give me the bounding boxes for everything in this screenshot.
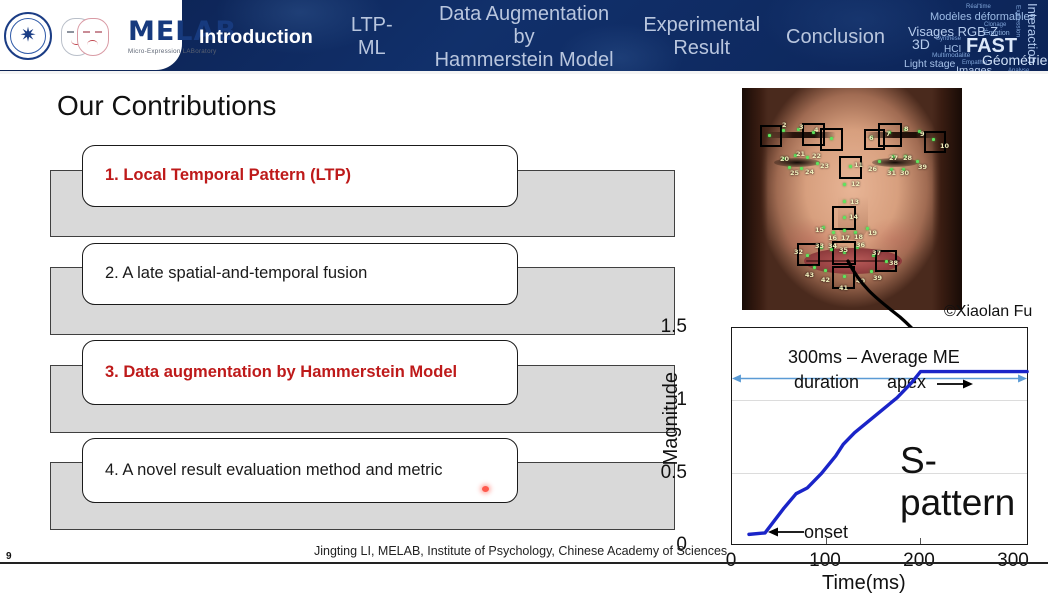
contribution-box-2[interactable]: 2. A late spatial-and-temporal fusion [82,243,518,305]
slide-footer: Jingting LI, MELAB, Institute of Psychol… [0,562,1048,590]
chart-y-tick-1: 1 [676,389,687,411]
nav-item-ltp-ml[interactable]: LTP-ML [326,14,418,60]
word-cloud-3d: 3D [912,37,930,51]
contribution-box-3[interactable]: 3. Data augmentation by Hammerstein Mode… [82,340,518,405]
word-cloud-realtime: Réal'time [966,4,991,10]
contribution-text-2: 2. A late spatial-and-temporal fusion [105,263,367,284]
contribution-text-4: 4. A novel result evaluation method and … [105,460,443,481]
seal-star-icon: ✷ [20,26,37,46]
contribution-box-4[interactable]: 4. A novel result evaluation method and … [82,438,518,503]
chart-y-axis-title: Magnitude [660,372,683,465]
institute-seal-icon: ✷ [4,12,52,60]
contribution-text-1: 1. Local Temporal Pattern (LTP) [105,165,351,186]
word-cloud-synthese: Synthèse [936,36,961,42]
nav-item-experimental-result[interactable]: Experimental Result [630,14,773,60]
chart-y-tick-1-5: 1.5 [661,316,687,338]
chart-y-tick-0-5: 0.5 [661,462,687,484]
contribution-box-1[interactable]: 1. Local Temporal Pattern (LTP) [82,145,518,207]
s-pattern-curve [732,328,1029,546]
footer-affiliation-text: Jingting LI, MELAB, Institute of Psychol… [314,544,727,558]
contribution-text-3: 3. Data augmentation by Hammerstein Mode… [105,362,457,383]
laser-pointer-dot [482,486,489,492]
chart-plot-area: 300ms – Average ME duration apex onset S… [731,327,1028,545]
lab-word-cloud: Réal'time Modèles déformables Visages RG… [904,3,1044,73]
nav-item-introduction[interactable]: Introduction [186,26,326,48]
section-nav: Introduction LTP-ML Data Augmentation by… [186,0,898,74]
nav-item-data-augmentation[interactable]: Data Augmentation by Hammerstein Model [418,3,631,72]
word-cloud-clonage: Clonage [984,22,1006,28]
presentation-header-bar: ✷ MELAB Micro-Expression LABoratory Intr… [0,0,1048,74]
nav-item-conclusion[interactable]: Conclusion [773,26,898,49]
page-number: 9 [6,551,12,562]
s-pattern-chart: Magnitude Time(ms) 1.5 1 0.5 0 0 100 200… [672,310,1048,590]
word-cloud-images: Images [956,66,992,74]
micro-expression-masks-icon [61,16,117,56]
word-cloud-analyse: Analyse [1008,68,1029,74]
page-title: Our Contributions [57,90,276,122]
word-cloud-light-stage: Light stage [904,59,955,70]
mask-right-icon [77,18,109,56]
word-cloud-expression: Expression [1014,5,1021,37]
